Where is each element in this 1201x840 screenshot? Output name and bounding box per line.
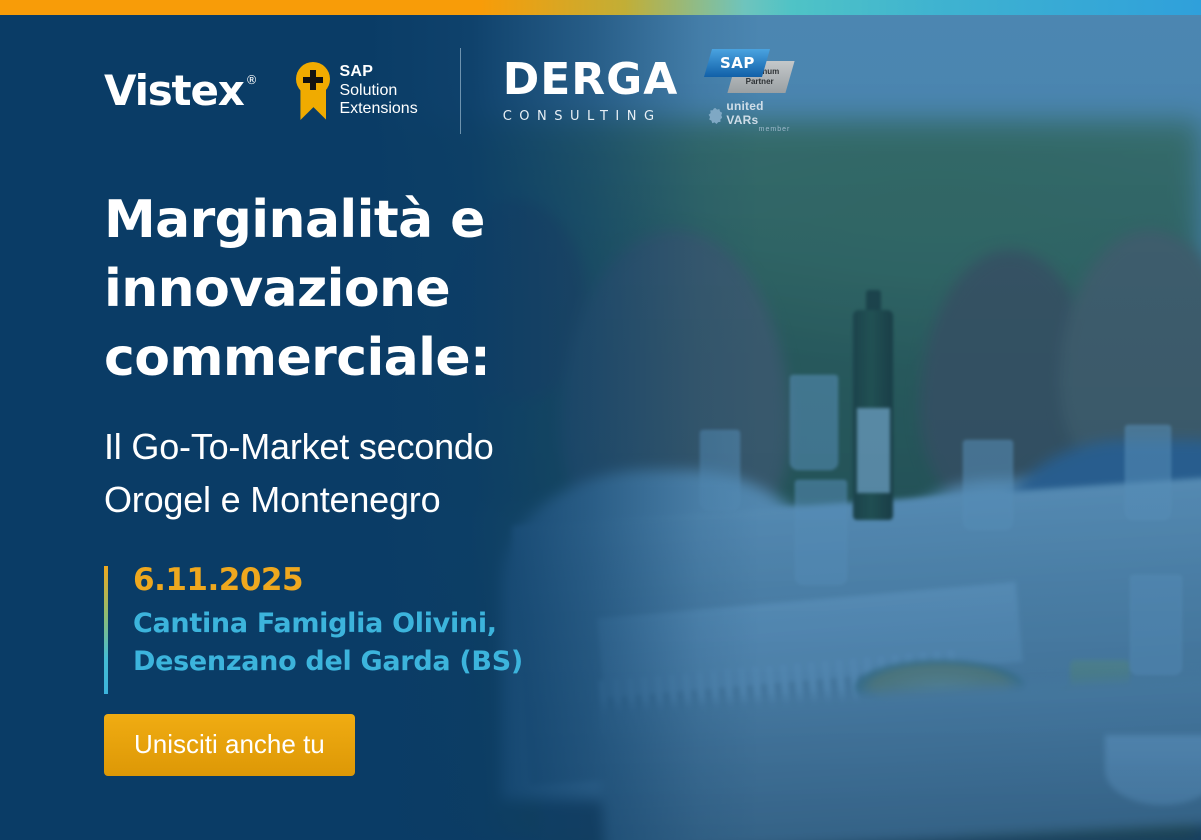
registered-trademark-icon: ®: [246, 74, 257, 86]
page-subtitle: Il Go-To-Market secondo Orogel e Montene…: [104, 421, 844, 527]
sap-ribbon-plus-icon: [296, 62, 330, 120]
derga-consulting-logo: DERGA CONSULTING: [503, 58, 679, 124]
derga-wordmark: DERGA: [503, 58, 679, 102]
sap-platinum-partner-badge: Platinum Partner SAP united VARs member: [708, 49, 790, 133]
venue-line-2: Desenzano del Garda (BS): [133, 643, 844, 680]
united-vars-member-label: member: [726, 126, 790, 133]
extensions-label: Extensions: [339, 100, 417, 119]
page-title: Marginalità e innovazione commerciale:: [104, 186, 844, 393]
sap-label: SAP: [339, 63, 417, 82]
event-venue: Cantina Famiglia Olivini, Desenzano del …: [133, 605, 844, 680]
event-banner: Vistex ® SAP Solution Extensions DERGA C…: [0, 0, 1201, 840]
derga-tagline: CONSULTING: [503, 109, 662, 124]
subhead-line-2: Orogel e Montenegro: [104, 474, 844, 527]
partner-label: Partner: [746, 77, 774, 87]
vistex-wordmark: Vistex: [104, 70, 244, 112]
top-gradient-bar: [0, 0, 1201, 15]
headline-line-1: Marginalità e innovazione: [104, 186, 844, 324]
united-vars-logo: united VARs member: [708, 99, 790, 133]
logo-divider: [460, 48, 461, 134]
sap-solution-extensions-logo: SAP Solution Extensions: [296, 62, 417, 120]
sap-solution-extensions-text: SAP Solution Extensions: [339, 63, 417, 120]
accent-bar: [104, 566, 108, 694]
logo-row: Vistex ® SAP Solution Extensions DERGA C…: [104, 48, 790, 134]
sap-badge-label: SAP: [720, 54, 755, 72]
banner-content: Marginalità e innovazione commerciale: I…: [104, 186, 844, 776]
sap-plate: SAP: [704, 49, 770, 77]
vistex-logo: Vistex ®: [104, 70, 256, 112]
venue-line-1: Cantina Famiglia Olivini,: [133, 605, 844, 642]
partner-badge-graphic: Platinum Partner SAP: [708, 49, 790, 95]
event-date: 6.11.2025: [133, 563, 844, 597]
event-details: 6.11.2025 Cantina Famiglia Olivini, Dese…: [104, 563, 844, 680]
united-vars-label: united VARs: [726, 99, 790, 127]
plus-icon-vertical: [310, 70, 316, 90]
join-cta-button[interactable]: Unisciti anche tu: [104, 714, 355, 776]
subhead-line-1: Il Go-To-Market secondo: [104, 421, 844, 474]
headline-line-2: commerciale:: [104, 324, 844, 393]
solution-label: Solution: [339, 82, 417, 101]
gear-icon: [708, 108, 722, 124]
